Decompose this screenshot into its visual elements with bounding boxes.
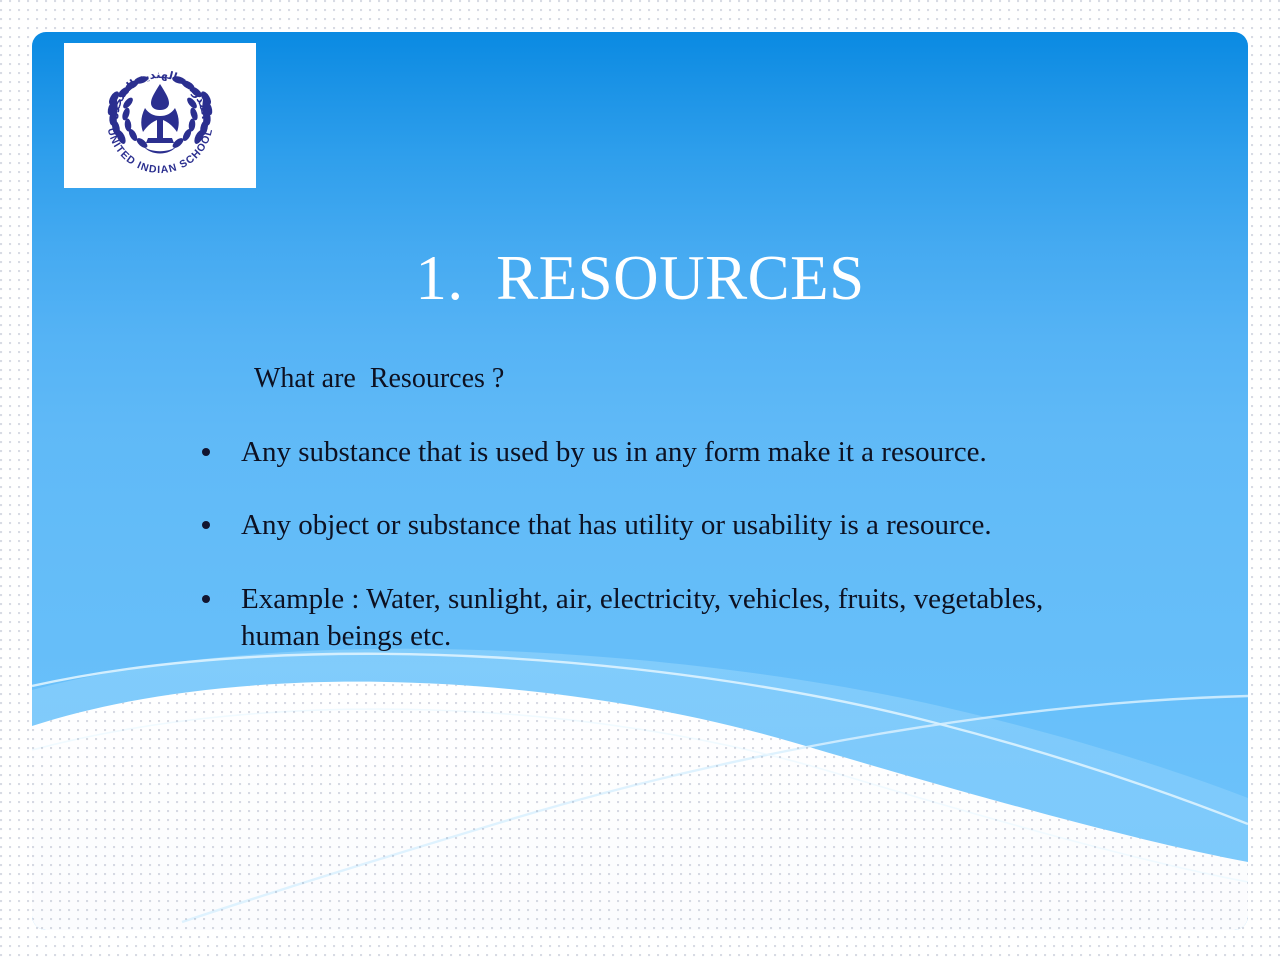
bullet-dot-icon (202, 595, 210, 603)
lamp-flame-emblem (141, 84, 178, 143)
wave-decoration (32, 630, 1248, 930)
list-item-text: Any substance that is used by us in any … (241, 434, 987, 471)
subheading-question: What are Resources ? (254, 362, 1248, 396)
list-item-text: Any object or substance that has utility… (241, 507, 992, 544)
slide-body: What are Resources ? Any substance that … (32, 362, 1248, 655)
bullet-list: Any substance that is used by us in any … (32, 434, 1248, 655)
list-item: Any object or substance that has utility… (202, 507, 1082, 544)
list-item: Example : Water, sunlight, air, electric… (202, 581, 1082, 655)
page-title: 1. RESOURCES (32, 244, 1248, 313)
united-indian-school-logo-icon: المدرسة الهندية المتحدة (85, 50, 235, 182)
slide-canvas: المدرسة الهندية المتحدة (32, 32, 1248, 930)
bullet-dot-icon (202, 448, 210, 456)
bullet-dot-icon (202, 521, 210, 529)
school-logo-plate: المدرسة الهندية المتحدة (64, 43, 256, 188)
list-item: Any substance that is used by us in any … (202, 434, 1082, 471)
list-item-text: Example : Water, sunlight, air, electric… (241, 581, 1082, 655)
